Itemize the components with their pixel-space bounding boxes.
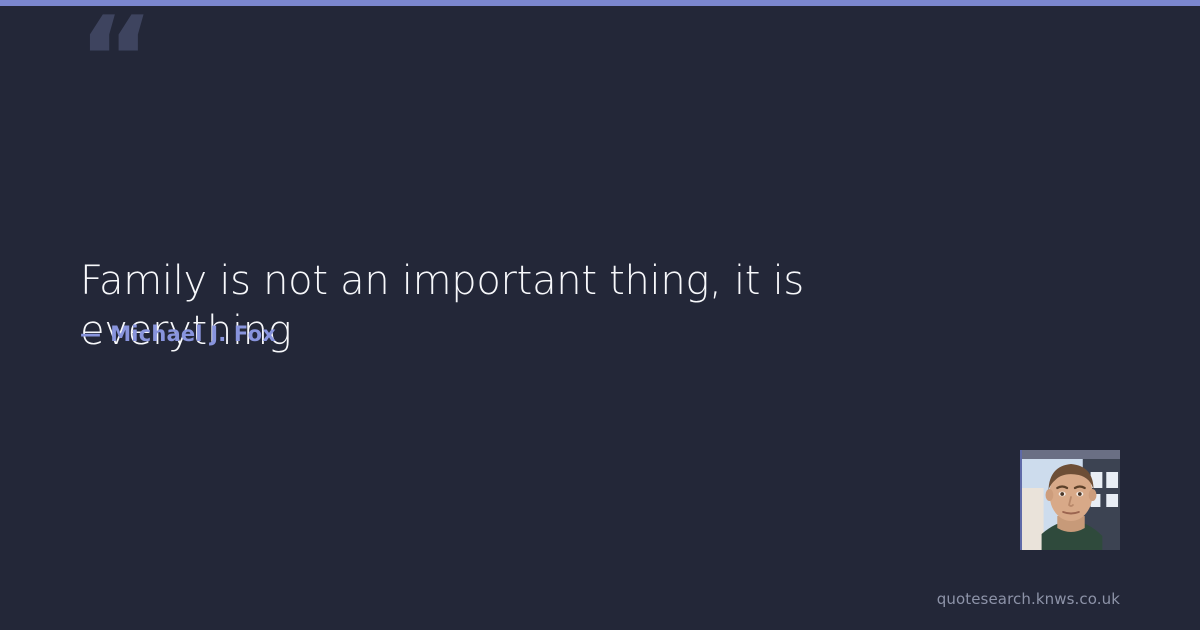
top-accent-bar: [0, 0, 1200, 6]
attribution-author-name: Michael J. Fox: [110, 322, 276, 346]
opening-quote-mark-icon: “: [78, 2, 152, 118]
author-photo: [1020, 450, 1120, 550]
author-portrait-illustration: [1022, 450, 1120, 550]
watermark-site-url: quotesearch.knws.co.uk: [937, 590, 1120, 608]
quote-attribution: —Michael J. Fox: [80, 322, 276, 346]
quote-card: “ Family is not an important thing, it i…: [0, 0, 1200, 630]
attribution-dash: —: [80, 322, 101, 346]
